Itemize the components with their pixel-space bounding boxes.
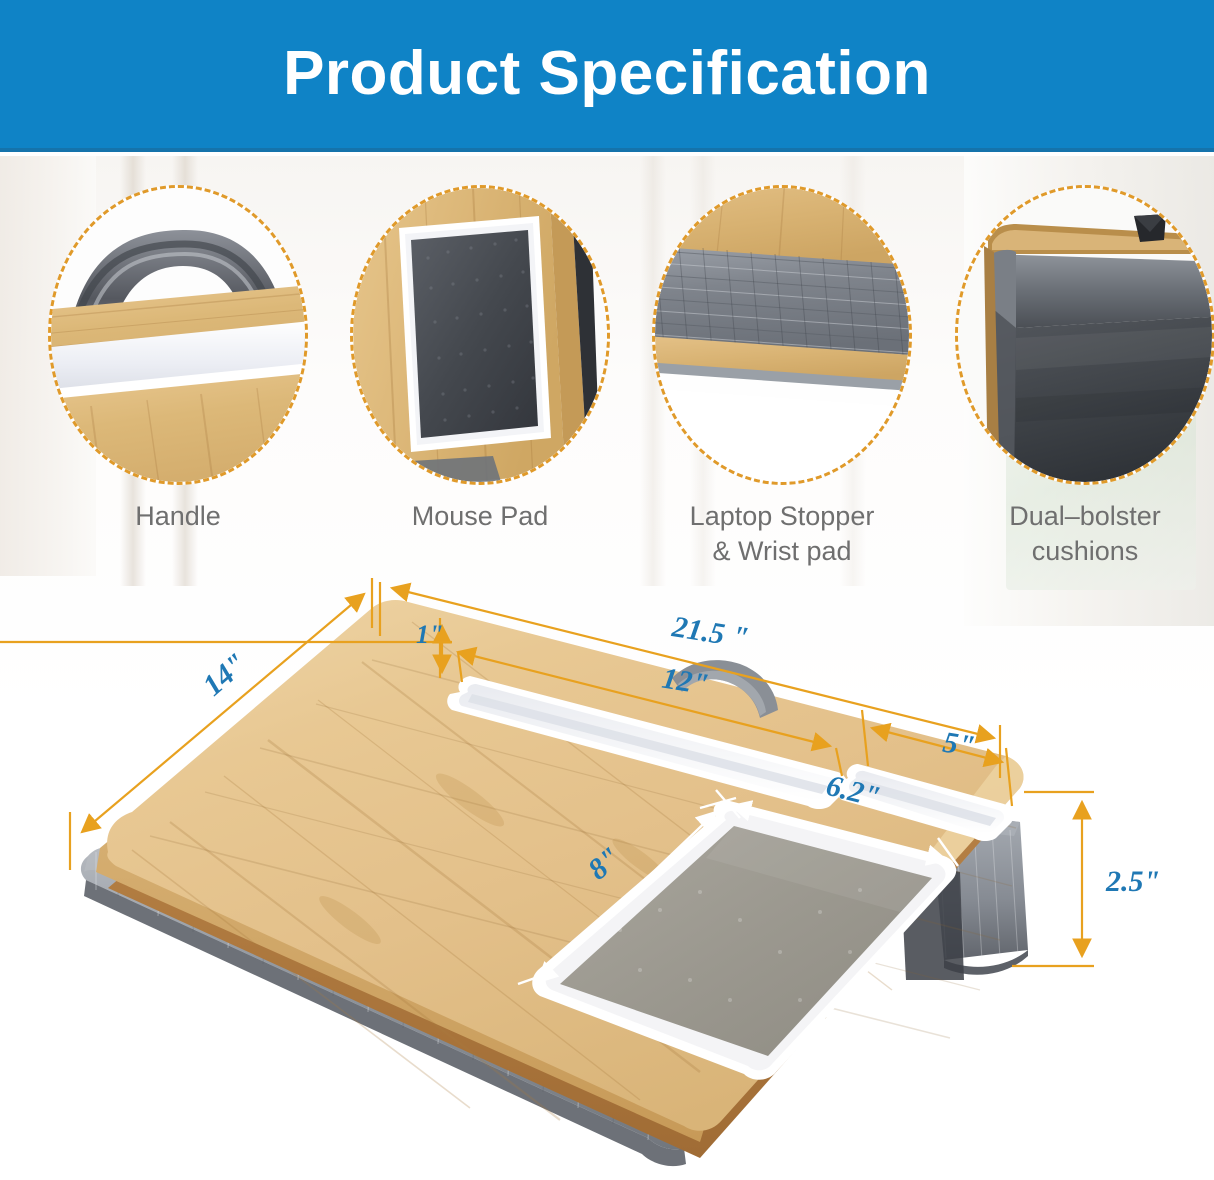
feature-callouts: Handle bbox=[0, 175, 1214, 575]
handle-closeup-icon bbox=[48, 185, 308, 485]
dimension-label-short-slot: 5" bbox=[941, 726, 978, 765]
feature-label-mouse-pad: Mouse Pad bbox=[350, 499, 610, 534]
laptop-stopper-closeup-icon bbox=[652, 185, 912, 485]
product-dimension-diagram: 21.5 " 14" 1" 12" 5" 8" 6.2" 2.5" bbox=[0, 560, 1214, 1180]
bolster-cushion-closeup-icon bbox=[955, 185, 1214, 485]
laptop-stopper-illustration bbox=[655, 188, 909, 482]
dimension-label-total-height: 2.5" bbox=[1106, 865, 1160, 899]
dimension-label-long-slot: 12" bbox=[660, 662, 711, 703]
feature-label-handle: Handle bbox=[48, 499, 308, 534]
feature-label-line1: Dual–bolster bbox=[955, 499, 1214, 534]
feature-label-cushions: Dual–bolster cushions bbox=[955, 499, 1214, 568]
product-specification-page: Product Specification bbox=[0, 0, 1214, 1180]
bolster-cushion-illustration bbox=[958, 188, 1212, 482]
feature-label-laptop-stopper: Laptop Stopper & Wrist pad bbox=[652, 499, 912, 568]
page-title: Product Specification bbox=[283, 43, 931, 105]
mouse-pad-illustration bbox=[353, 188, 607, 482]
feature-callout-mouse-pad[interactable]: Mouse Pad bbox=[350, 185, 610, 534]
dimension-label-slot-height: 1" bbox=[416, 620, 443, 650]
mouse-pad-closeup-icon bbox=[350, 185, 610, 485]
feature-callout-cushions[interactable]: Dual–bolster cushions bbox=[955, 185, 1214, 568]
handle-illustration bbox=[51, 188, 305, 482]
feature-label-line1: Laptop Stopper bbox=[652, 499, 912, 534]
feature-callout-laptop-stopper[interactable]: Laptop Stopper & Wrist pad bbox=[652, 185, 912, 568]
page-header-banner: Product Specification bbox=[0, 0, 1214, 152]
feature-callout-handle[interactable]: Handle bbox=[48, 185, 308, 534]
